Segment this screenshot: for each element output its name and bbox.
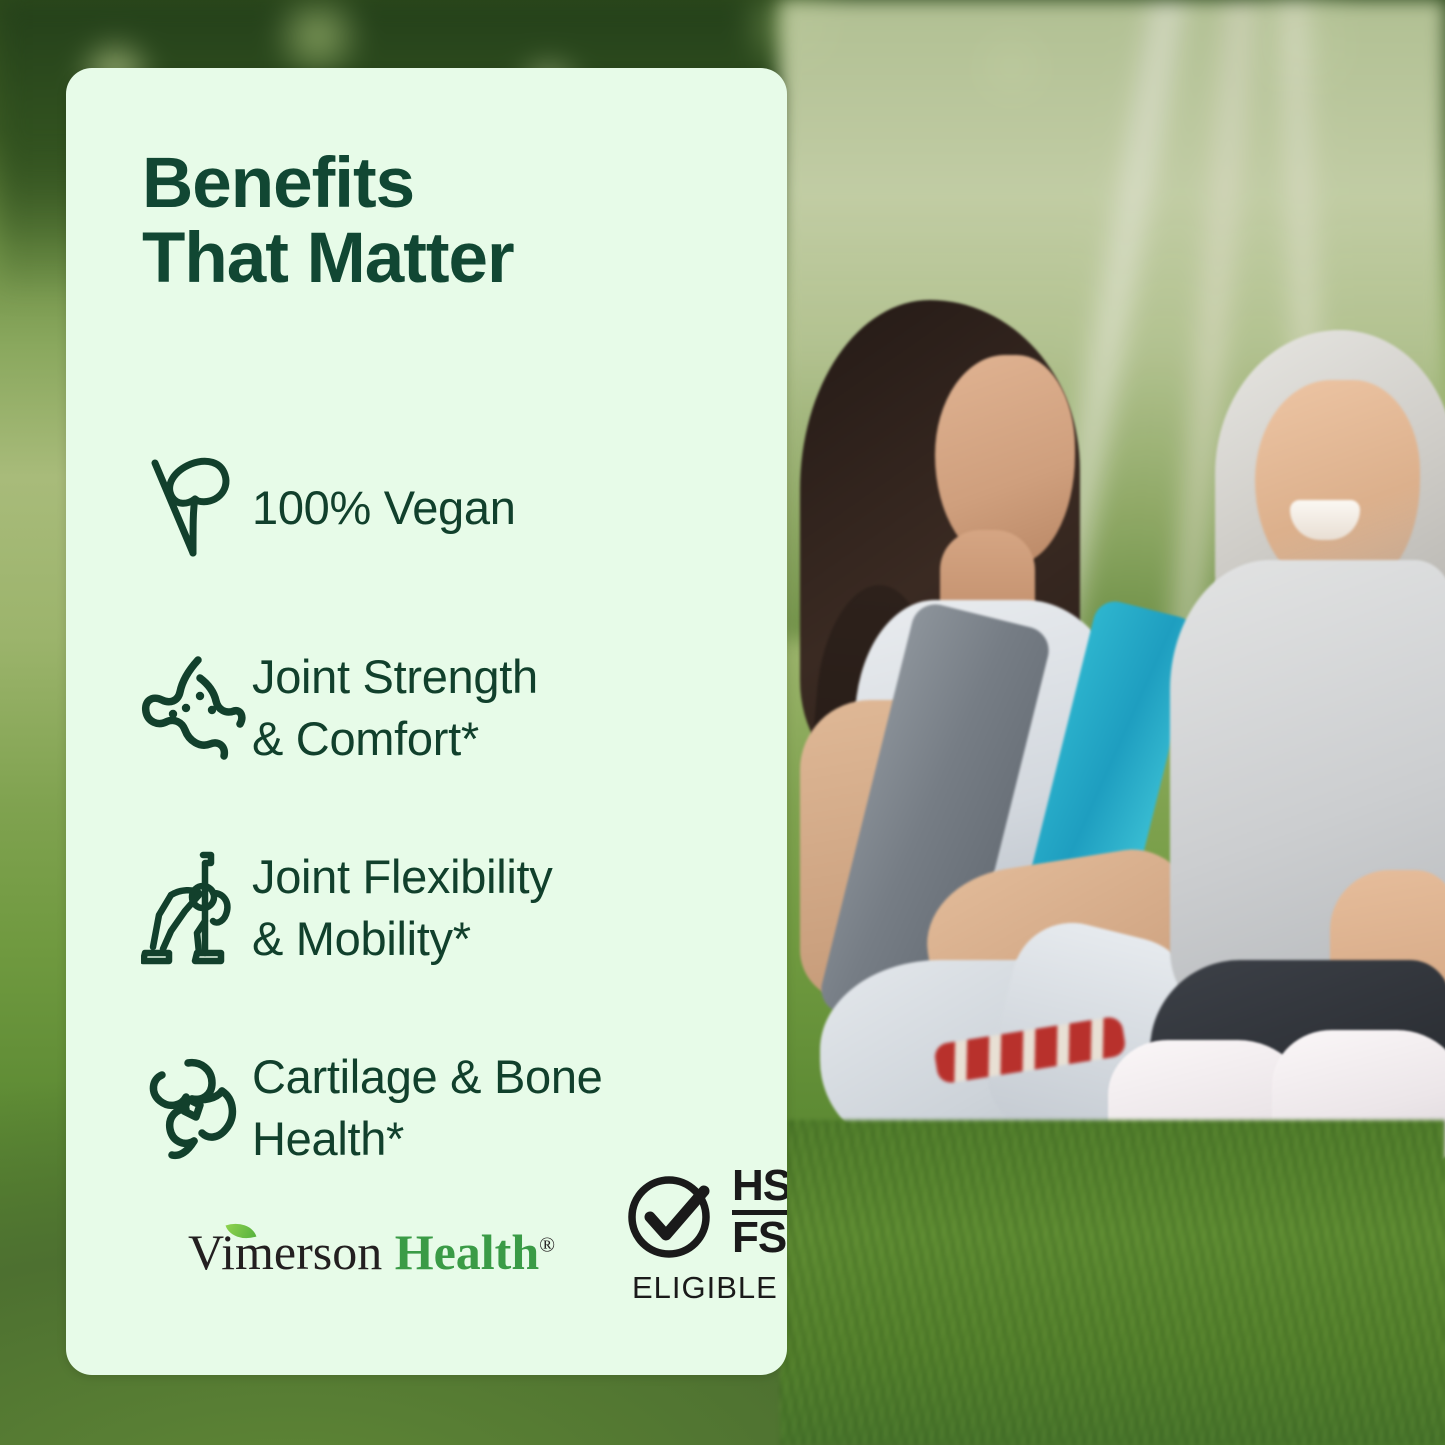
hsa-fsa-text-stack: HSA FSA: [732, 1165, 787, 1259]
joint-bone-icon: [134, 654, 252, 762]
older-woman-face: [1255, 380, 1420, 590]
fsa-label: FSA: [732, 1217, 787, 1259]
benefit-item-joint-strength: Joint Strength & Comfort*: [134, 608, 774, 808]
stretching-person-icon: [134, 849, 252, 967]
leaf-sprout-icon: [134, 453, 252, 563]
page-title-line-2: That Matter: [142, 221, 514, 296]
card-footer: Vimerson Health® HSA FSA ELIGIBLE: [66, 1165, 787, 1335]
benefit-item-vegan: 100% Vegan: [134, 408, 774, 608]
benefit-label-joint-flexibility: Joint Flexibility & Mobility*: [252, 846, 553, 971]
cartilage-bone-icon: [134, 1053, 252, 1163]
benefit-label-vegan: 100% Vegan: [252, 477, 516, 540]
brand-logo: Vimerson Health®: [188, 1223, 555, 1281]
hsa-fsa-eligible-badge: HSA FSA ELIGIBLE: [624, 1165, 787, 1315]
benefit-item-joint-flexibility: Joint Flexibility & Mobility*: [134, 808, 774, 1008]
benefits-card: Benefits That Matter 100% Vegan: [66, 68, 787, 1375]
benefit-label-joint-strength: Joint Strength & Comfort*: [252, 646, 538, 771]
registered-trademark-mark: ®: [539, 1232, 555, 1256]
benefit-label-cartilage-bone: Cartilage & Bone Health*: [252, 1046, 603, 1171]
benefits-list: 100% Vegan Joint Strength & Comfort*: [134, 408, 774, 1208]
check-circle-icon: [624, 1169, 720, 1270]
eligible-label: ELIGIBLE: [632, 1270, 778, 1306]
page-title: Benefits That Matter: [142, 146, 514, 297]
brand-name-second: Health: [395, 1224, 539, 1280]
page-title-line-1: Benefits: [142, 146, 514, 221]
hsa-label: HSA: [732, 1165, 787, 1207]
brand-name-first: Vimerson: [188, 1224, 382, 1280]
foreground-grass: [780, 1120, 1445, 1445]
